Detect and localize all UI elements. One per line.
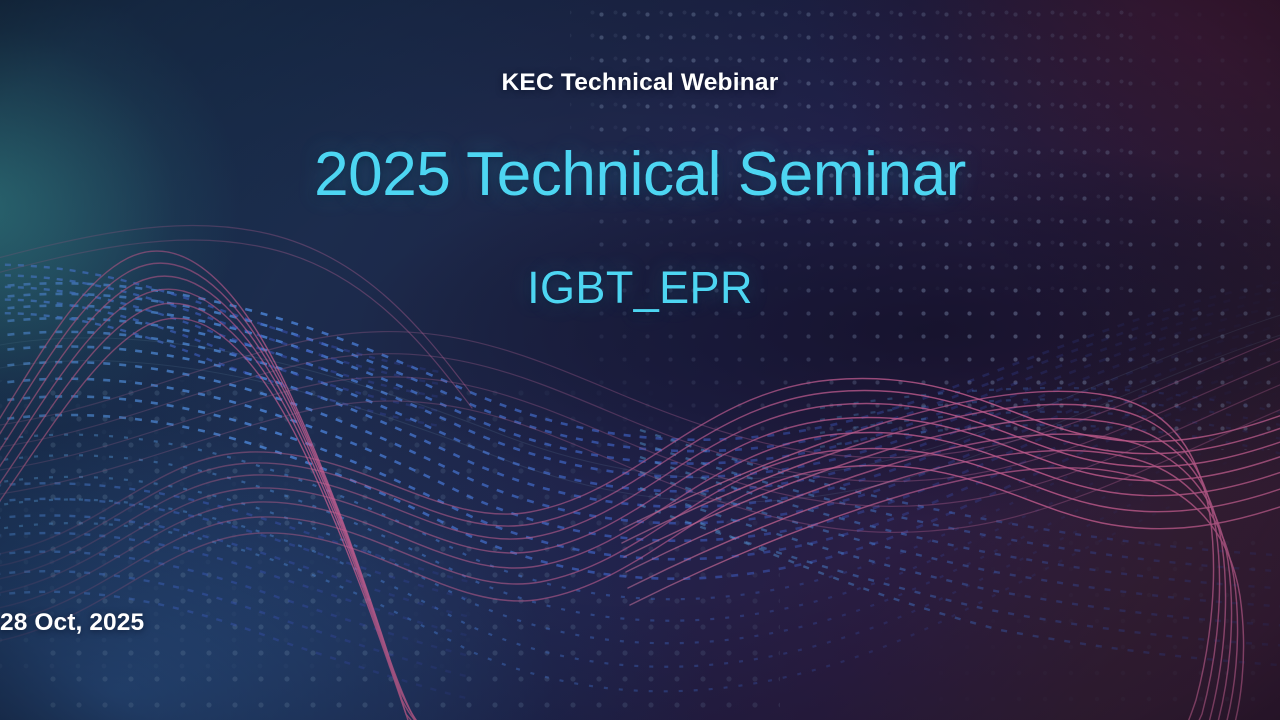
webinar-eyebrow-label: KEC Technical Webinar [502, 69, 779, 97]
slide-date: 28 Oct, 2025 [0, 609, 1280, 637]
presentation-slide: KEC Technical Webinar 2025 Technical Sem… [0, 0, 1280, 720]
page-title: 2025 Technical Seminar [314, 143, 966, 206]
page-subtitle: IGBT_EPR [527, 262, 753, 314]
